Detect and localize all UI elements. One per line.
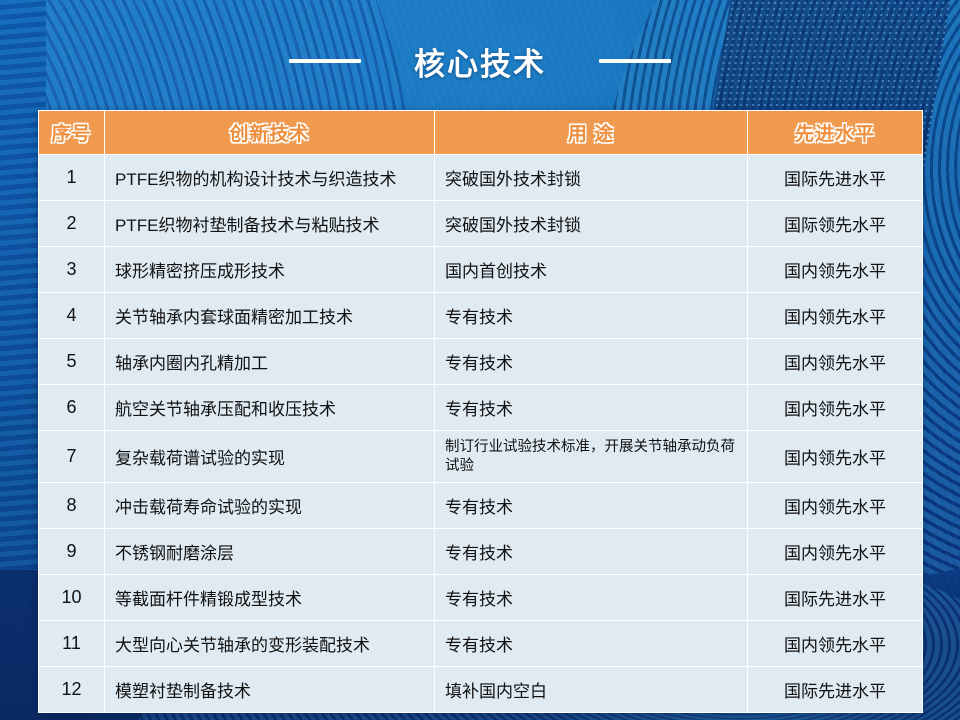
col-header-usage: 用 途	[435, 111, 748, 155]
cell-usage: 国内首创技术	[435, 247, 748, 293]
cell-usage: 填补国内空白	[435, 667, 748, 713]
cell-index: 8	[39, 483, 105, 529]
col-header-technology: 创新技术	[105, 111, 435, 155]
cell-level: 国内领先水平	[748, 621, 923, 667]
cell-level: 国内领先水平	[748, 483, 923, 529]
table-row: 8 冲击载荷寿命试验的实现 专有技术 国内领先水平	[39, 483, 923, 529]
cell-index: 1	[39, 155, 105, 201]
table-row: 1 PTFE织物的机构设计技术与织造技术 突破国外技术封锁 国际先进水平	[39, 155, 923, 201]
cell-technology: 轴承内圈内孔精加工	[105, 339, 435, 385]
table-row: 6 航空关节轴承压配和收压技术 专有技术 国内领先水平	[39, 385, 923, 431]
col-header-index: 序号	[39, 111, 105, 155]
cell-index: 4	[39, 293, 105, 339]
table-row: 12 模塑衬垫制备技术 填补国内空白 国际先进水平	[39, 667, 923, 713]
cell-level: 国内领先水平	[748, 293, 923, 339]
slide-canvas: 核心技术 序号 创新技术 用 途 先进水平 1 PTFE织物的机构设计技术与织造…	[0, 0, 960, 720]
cell-index: 2	[39, 201, 105, 247]
cell-level: 国际先进水平	[748, 155, 923, 201]
cell-usage: 专有技术	[435, 339, 748, 385]
cell-level: 国内领先水平	[748, 385, 923, 431]
cell-level: 国内领先水平	[748, 431, 923, 483]
table-row: 5 轴承内圈内孔精加工 专有技术 国内领先水平	[39, 339, 923, 385]
cell-usage: 突破国外技术封锁	[435, 201, 748, 247]
cell-technology: 模塑衬垫制备技术	[105, 667, 435, 713]
cell-level: 国际领先水平	[748, 201, 923, 247]
cell-level: 国内领先水平	[748, 529, 923, 575]
cell-technology: 航空关节轴承压配和收压技术	[105, 385, 435, 431]
table-row: 4 关节轴承内套球面精密加工技术 专有技术 国内领先水平	[39, 293, 923, 339]
cell-usage: 专有技术	[435, 529, 748, 575]
table-row: 7 复杂载荷谱试验的实现 制订行业试验技术标准，开展关节轴承动负荷试验 国内领先…	[39, 431, 923, 483]
cell-usage: 专有技术	[435, 483, 748, 529]
cell-technology: PTFE织物的机构设计技术与织造技术	[105, 155, 435, 201]
cell-level: 国内领先水平	[748, 247, 923, 293]
cell-index: 5	[39, 339, 105, 385]
cell-technology: PTFE织物衬垫制备技术与粘贴技术	[105, 201, 435, 247]
cell-technology: 不锈钢耐磨涂层	[105, 529, 435, 575]
cell-level: 国内领先水平	[748, 339, 923, 385]
title-rule-right	[599, 59, 671, 63]
table-header-row: 序号 创新技术 用 途 先进水平	[39, 111, 923, 155]
table-row: 10 等截面杆件精锻成型技术 专有技术 国际先进水平	[39, 575, 923, 621]
cell-index: 6	[39, 385, 105, 431]
table-row: 11 大型向心关节轴承的变形装配技术 专有技术 国内领先水平	[39, 621, 923, 667]
cell-index: 9	[39, 529, 105, 575]
slide-title-row: 核心技术	[0, 38, 960, 84]
col-header-level: 先进水平	[748, 111, 923, 155]
cell-technology: 复杂载荷谱试验的实现	[105, 431, 435, 483]
cell-technology: 大型向心关节轴承的变形装配技术	[105, 621, 435, 667]
table-row: 3 球形精密挤压成形技术 国内首创技术 国内领先水平	[39, 247, 923, 293]
cell-level: 国际先进水平	[748, 575, 923, 621]
cell-index: 11	[39, 621, 105, 667]
title-rule-left	[289, 59, 361, 63]
cell-usage: 突破国外技术封锁	[435, 155, 748, 201]
cell-usage: 制订行业试验技术标准，开展关节轴承动负荷试验	[435, 431, 748, 483]
cell-technology: 球形精密挤压成形技术	[105, 247, 435, 293]
cell-usage: 专有技术	[435, 621, 748, 667]
cell-index: 10	[39, 575, 105, 621]
table-row: 9 不锈钢耐磨涂层 专有技术 国内领先水平	[39, 529, 923, 575]
core-technology-table: 序号 创新技术 用 途 先进水平 1 PTFE织物的机构设计技术与织造技术 突破…	[38, 110, 922, 713]
cell-level: 国际先进水平	[748, 667, 923, 713]
cell-technology: 等截面杆件精锻成型技术	[105, 575, 435, 621]
cell-usage: 专有技术	[435, 293, 748, 339]
cell-index: 12	[39, 667, 105, 713]
cell-technology: 冲击载荷寿命试验的实现	[105, 483, 435, 529]
cell-usage: 专有技术	[435, 385, 748, 431]
cell-usage: 专有技术	[435, 575, 748, 621]
table-row: 2 PTFE织物衬垫制备技术与粘贴技术 突破国外技术封锁 国际领先水平	[39, 201, 923, 247]
page-title: 核心技术	[385, 39, 575, 84]
table-body: 1 PTFE织物的机构设计技术与织造技术 突破国外技术封锁 国际先进水平 2 P…	[39, 155, 923, 713]
cell-index: 3	[39, 247, 105, 293]
cell-index: 7	[39, 431, 105, 483]
cell-technology: 关节轴承内套球面精密加工技术	[105, 293, 435, 339]
